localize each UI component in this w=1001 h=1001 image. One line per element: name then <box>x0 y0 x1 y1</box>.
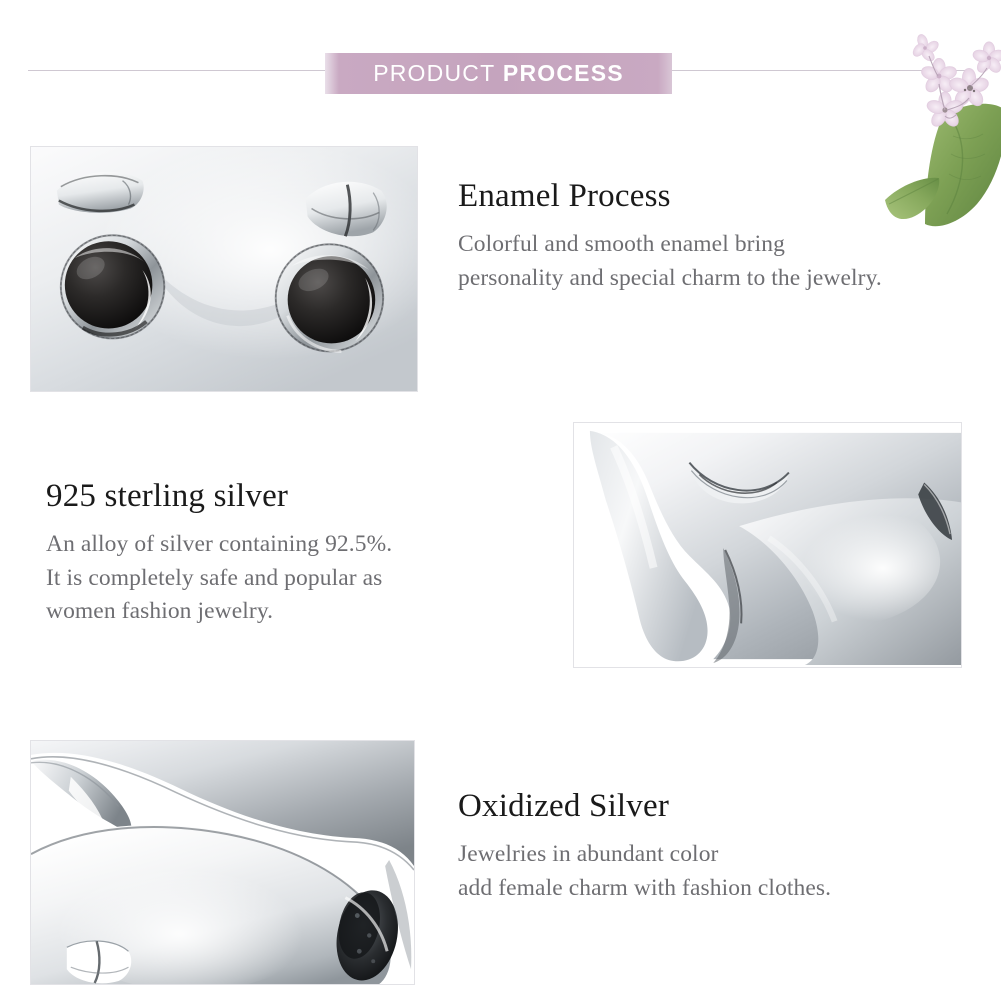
section-title-sterling-silver: 925 sterling silver <box>46 478 546 514</box>
section-image-oxidized-silver <box>30 740 415 985</box>
silver-nub <box>67 941 131 983</box>
body-line: women fashion jewelry. <box>46 595 546 628</box>
page-title-light: PRODUCT <box>373 60 495 86</box>
section-body-sterling-silver: An alloy of silver containing 92.5%. It … <box>46 528 546 628</box>
body-line: add female charm with fashion clothes. <box>458 872 998 905</box>
body-line: personality and special charm to the jew… <box>458 262 998 295</box>
body-line: Colorful and smooth enamel bring <box>458 228 998 261</box>
page-title-banner: PRODUCT PROCESS <box>325 53 672 94</box>
section-body-oxidized-silver: Jewelries in abundant color add female c… <box>458 838 998 905</box>
section-text-oxidized-silver: Oxidized Silver Jewelries in abundant co… <box>458 788 998 905</box>
divider-line-left <box>28 70 328 71</box>
body-line: It is completely safe and popular as <box>46 562 546 595</box>
section-title-enamel-process: Enamel Process <box>458 178 998 214</box>
section-body-enamel-process: Colorful and smooth enamel bring persona… <box>458 228 998 295</box>
body-line: Jewelries in abundant color <box>458 838 998 871</box>
page-header: PRODUCT PROCESS <box>0 0 1001 120</box>
black-enamel-eye-left <box>61 235 164 338</box>
section-text-sterling-silver: 925 sterling silver An alloy of silver c… <box>46 478 546 628</box>
section-title-oxidized-silver: Oxidized Silver <box>458 788 998 824</box>
section-image-enamel-process <box>30 146 418 392</box>
section-text-enamel-process: Enamel Process Colorful and smooth ename… <box>458 178 998 295</box>
divider-line-right <box>672 70 972 71</box>
page-title: PRODUCT PROCESS <box>373 60 624 87</box>
body-line: An alloy of silver containing 92.5%. <box>46 528 546 561</box>
page-title-bold: PROCESS <box>503 60 624 86</box>
section-image-sterling-silver <box>573 422 962 668</box>
black-enamel-eye-right <box>276 244 383 351</box>
